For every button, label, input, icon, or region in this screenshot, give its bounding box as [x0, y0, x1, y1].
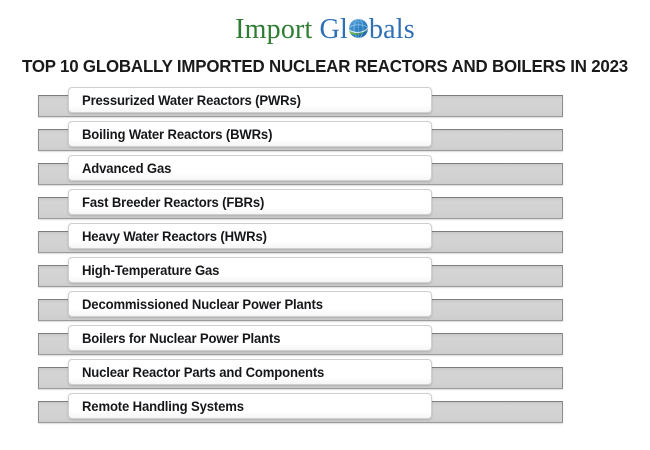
import-globals-logo: ImportGl — [235, 14, 415, 46]
bar-row: Boilers for Nuclear Power Plants — [0, 325, 650, 359]
bar-label-box: Nuclear Reactor Parts and Components — [68, 359, 432, 385]
bar-label-box: Boilers for Nuclear Power Plants — [68, 325, 432, 351]
logo-area: ImportGl — [0, 0, 650, 52]
bar-row: Pressurized Water Reactors (PWRs) — [0, 87, 650, 121]
bar-label-box: Pressurized Water Reactors (PWRs) — [68, 87, 432, 113]
bar-label-text: Boiling Water Reactors (BWRs) — [82, 127, 272, 142]
bar-label-text: High-Temperature Gas — [82, 263, 219, 278]
bar-row: Nuclear Reactor Parts and Components — [0, 359, 650, 393]
globe-icon — [348, 15, 369, 36]
bar-label-text: Fast Breeder Reactors (FBRs) — [82, 195, 264, 210]
logo-text-gl: Gl — [320, 14, 348, 46]
bar-label-text: Pressurized Water Reactors (PWRs) — [82, 93, 301, 108]
bar-label-box: High-Temperature Gas — [68, 257, 432, 283]
bar-row: Advanced Gas — [0, 155, 650, 189]
chart-title: TOP 10 GLOBALLY IMPORTED NUCLEAR REACTOR… — [11, 56, 638, 77]
bar-label-box: Remote Handling Systems — [68, 393, 432, 419]
bar-row: Remote Handling Systems — [0, 393, 650, 427]
bar-label-text: Decommissioned Nuclear Power Plants — [82, 297, 323, 312]
bar-label-box: Advanced Gas — [68, 155, 432, 181]
bar-label-box: Heavy Water Reactors (HWRs) — [68, 223, 432, 249]
bar-row: Decommissioned Nuclear Power Plants — [0, 291, 650, 325]
bar-label-text: Nuclear Reactor Parts and Components — [82, 365, 324, 380]
bar-label-box: Decommissioned Nuclear Power Plants — [68, 291, 432, 317]
bar-label-text: Remote Handling Systems — [82, 399, 244, 414]
bar-label-text: Boilers for Nuclear Power Plants — [82, 331, 280, 346]
logo-text-bals: bals — [369, 14, 415, 46]
bar-label-box: Fast Breeder Reactors (FBRs) — [68, 189, 432, 215]
bar-label-box: Boiling Water Reactors (BWRs) — [68, 121, 432, 147]
logo-text-import: Import — [235, 14, 312, 46]
bar-label-text: Heavy Water Reactors (HWRs) — [82, 229, 267, 244]
bar-label-text: Advanced Gas — [82, 161, 171, 176]
bar-row: Fast Breeder Reactors (FBRs) — [0, 189, 650, 223]
bar-row: Boiling Water Reactors (BWRs) — [0, 121, 650, 155]
bar-row: High-Temperature Gas — [0, 257, 650, 291]
bar-row: Heavy Water Reactors (HWRs) — [0, 223, 650, 257]
horizontal-bar-chart: Pressurized Water Reactors (PWRs)Boiling… — [0, 87, 650, 437]
